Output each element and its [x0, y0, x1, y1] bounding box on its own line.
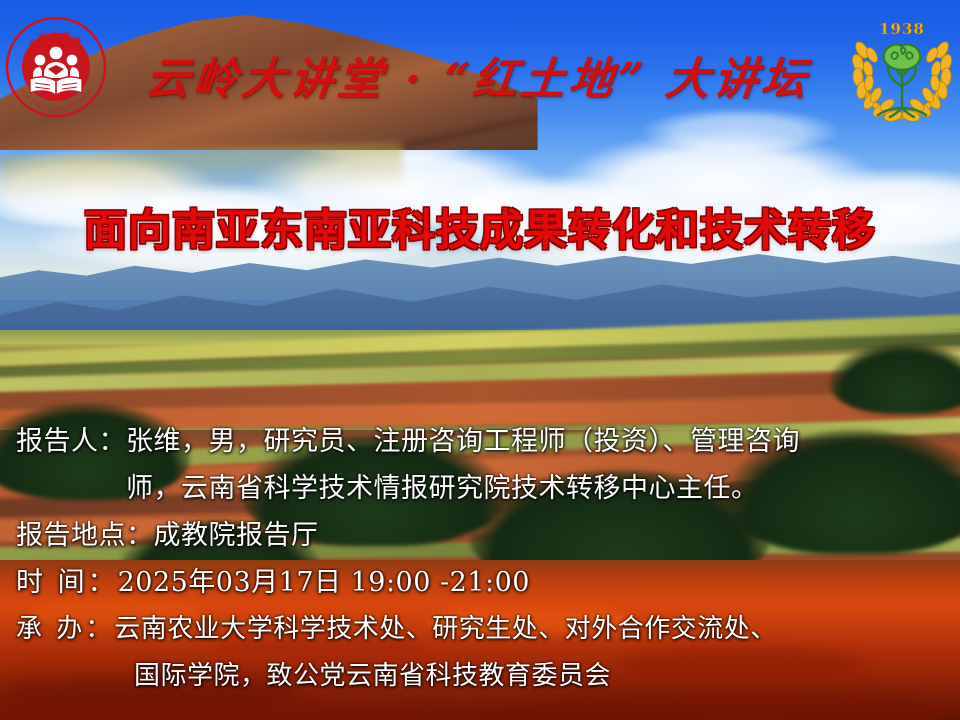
logo-year-text: 1938 — [879, 20, 925, 38]
organizer-value-line1: 云南农业大学科学技术处、研究生处、对外合作交流处、 — [114, 614, 777, 644]
speaker-line: 报告人：张维，男，研究员、注册咨询工程师（投资）、管理咨询 — [16, 418, 944, 465]
organizer-line-continued: 国际学院，致公党云南省科技教育委员会 — [16, 653, 944, 700]
organizer-label: 承 办： — [16, 614, 114, 644]
yunnan-agricultural-university-logo-icon: 1938 — [848, 12, 956, 122]
venue-line: 报告地点：成教院报告厅 — [16, 512, 944, 559]
organizer-line: 承 办：云南农业大学科学技术处、研究生处、对外合作交流处、 — [16, 606, 944, 653]
yun-ling-lecture-hall-logo-icon: 云岭大讲堂 YUN LING LECTURE HALL — [4, 15, 108, 119]
speaker-label: 报告人： — [16, 426, 126, 457]
page-title: 面向南亚东南亚科技成果转化和技术转移 — [0, 196, 960, 258]
header-title: 云岭大讲堂 · “红土地” 大讲坛 — [105, 43, 852, 107]
venue-label: 报告地点： — [16, 520, 154, 551]
event-details: 报告人：张维，男，研究员、注册咨询工程师（投资）、管理咨询 师，云南省科学技术情… — [0, 418, 960, 700]
venue-value: 成教院报告厅 — [154, 520, 319, 551]
time-label: 时 间： — [16, 567, 118, 598]
poster-header: 云岭大讲堂 YUN LING LECTURE HALL 云岭大讲堂 · “红土地… — [0, 0, 960, 128]
tree-clump — [830, 344, 960, 414]
time-value: 2025年03月17日 19:00 -21:00 — [118, 567, 530, 598]
speaker-line-continued: 师，云南省科学技术情报研究院技术转移中心主任。 — [16, 465, 944, 512]
speaker-value-line1: 张维，男，研究员、注册咨询工程师（投资）、管理咨询 — [126, 426, 800, 457]
time-line: 时 间：2025年03月17日 19:00 -21:00 — [16, 559, 944, 606]
event-poster: 云岭大讲堂 YUN LING LECTURE HALL 云岭大讲堂 · “红土地… — [0, 0, 960, 720]
